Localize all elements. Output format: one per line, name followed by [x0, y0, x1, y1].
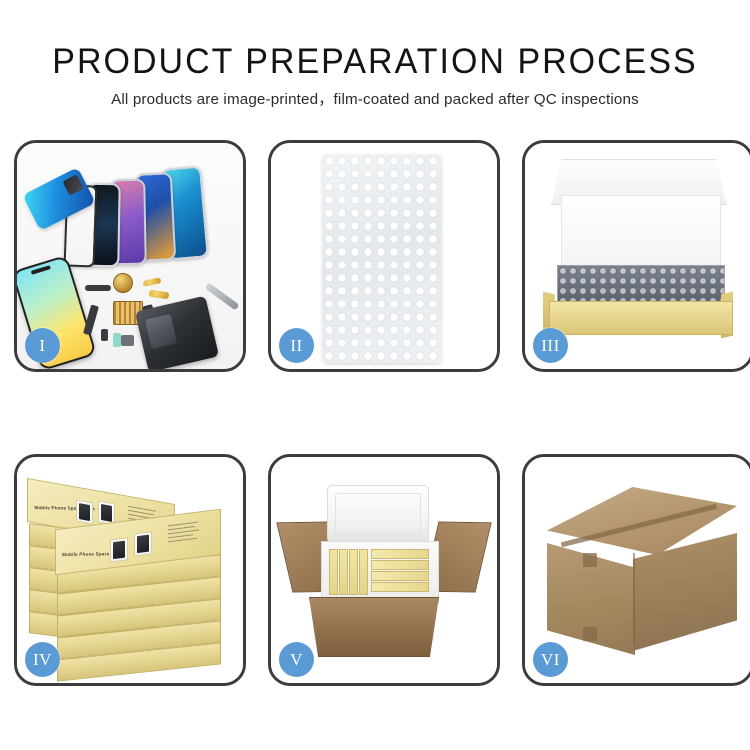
step-badge-2: II	[279, 328, 314, 363]
step-panel-3[interactable]: III	[522, 140, 750, 372]
button-part-icon	[101, 329, 108, 341]
carton-tape-tab-upper	[583, 553, 597, 567]
step-panel-6[interactable]: VI	[522, 454, 750, 686]
step-badge-3: III	[533, 328, 568, 363]
header: PRODUCT PREPARATION PROCESS All products…	[0, 0, 750, 130]
carton-vertical-seam	[633, 553, 635, 645]
box-window-front-2	[134, 531, 152, 556]
retail-box-v-2	[339, 549, 348, 595]
battery-part-icon	[113, 333, 121, 347]
step-badge-5: V	[279, 642, 314, 677]
page-subtitle: All products are image-printed，film-coat…	[0, 89, 750, 111]
earpiece-part-icon	[85, 285, 111, 291]
foam-sheet-liner	[561, 195, 721, 269]
retail-box-v-4	[359, 549, 368, 595]
bubble-wrap-bag	[323, 155, 441, 363]
box-spec-line-f3	[168, 530, 199, 535]
step-badge-1: I	[25, 328, 60, 363]
retail-box-h-1	[371, 549, 429, 559]
retail-box-h-4	[371, 582, 429, 592]
box-window-front-1	[110, 537, 128, 562]
box-window-back-1	[76, 500, 93, 525]
retail-box-v-1	[329, 549, 338, 595]
retail-box-v-3	[349, 549, 358, 595]
step-badge-4: IV	[25, 642, 60, 677]
step-panel-2[interactable]: II	[268, 140, 500, 372]
foam-box-lid	[327, 485, 429, 543]
step-panel-1[interactable]: I	[14, 140, 246, 372]
box-spec-line-f5	[168, 538, 197, 543]
steps-grid: I II III	[14, 140, 736, 736]
bubble-padding-layer	[557, 265, 725, 303]
retail-box-h-3	[371, 571, 429, 581]
box-front-panel	[549, 301, 733, 335]
page-title: PRODUCT PREPARATION PROCESS	[11, 42, 739, 82]
antenna-part-icon	[149, 290, 170, 300]
product-preparation-infographic: PRODUCT PREPARATION PROCESS All products…	[0, 0, 750, 750]
repair-tweezers-icon	[205, 283, 240, 311]
carton-tape-tab-lower	[583, 627, 597, 641]
step-panel-5[interactable]: V	[268, 454, 500, 686]
retail-box-h-2	[371, 560, 429, 570]
step-badge-6: VI	[533, 642, 568, 677]
connector-part-icon	[143, 277, 162, 287]
ic-chip-part-icon	[121, 335, 134, 346]
step-panel-4[interactable]: Mobile Phone Spare Parts Mobile Phone Sp…	[14, 454, 246, 686]
speaker-part-icon	[113, 273, 133, 293]
carton-front-panel	[309, 597, 439, 657]
